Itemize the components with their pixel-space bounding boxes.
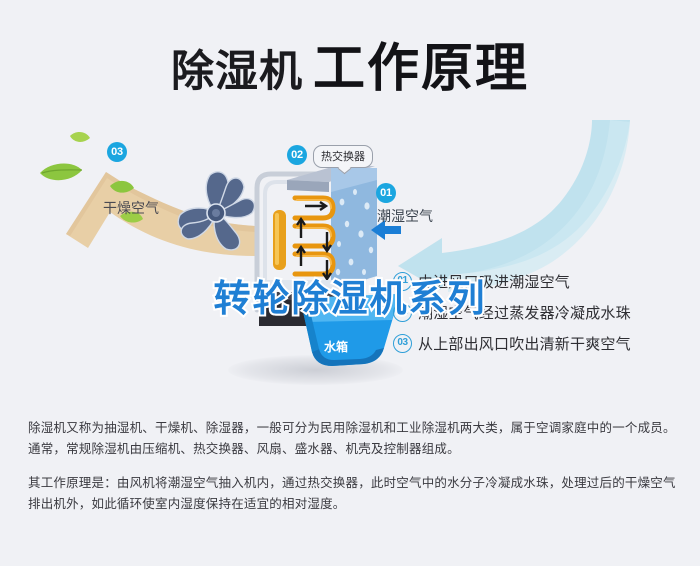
step-label: 从上部出风口吹出清新干爽空气 xyxy=(418,333,631,354)
page-title-part1: 除湿机 xyxy=(171,48,303,96)
label-humid-air: 潮湿空气 xyxy=(377,206,433,226)
heat-exchanger-callout: 热交换器 xyxy=(313,145,373,168)
badge-heat-exchanger: 02 xyxy=(287,145,307,165)
page-title-part2: 工作原理 xyxy=(313,40,529,98)
list-item: 03 从上部出风口吹出清新干爽空气 xyxy=(393,328,693,359)
badge-humid-air: 01 xyxy=(376,183,396,203)
paragraph-2: 其工作原理是：由风机将潮湿空气抽入机内，通过热交换器，此时空气中的水分子冷凝成水… xyxy=(28,473,678,515)
badge-dry-air: 03 xyxy=(107,142,127,162)
dehumidifier-diagram: 03 02 01 热交换器 干燥空气 潮湿空气 水箱 xyxy=(0,120,700,405)
page-title: 除湿机工作原理 xyxy=(0,26,700,101)
paragraph-1: 除湿机又称为抽湿机、干燥机、除湿器，一般可分为民用除湿机和工业除湿机两大类，属于… xyxy=(28,418,678,460)
leaf-icon xyxy=(30,128,170,263)
label-water-tank: 水箱 xyxy=(324,338,348,355)
step-number: 03 xyxy=(393,334,412,353)
label-dry-air: 干燥空气 xyxy=(103,198,159,218)
overlay-watermark-title: 转轮除湿机系列 xyxy=(0,268,700,322)
body-copy: 除湿机又称为抽湿机、干燥机、除湿器，一般可分为民用除湿机和工业除湿机两大类，属于… xyxy=(28,418,678,515)
